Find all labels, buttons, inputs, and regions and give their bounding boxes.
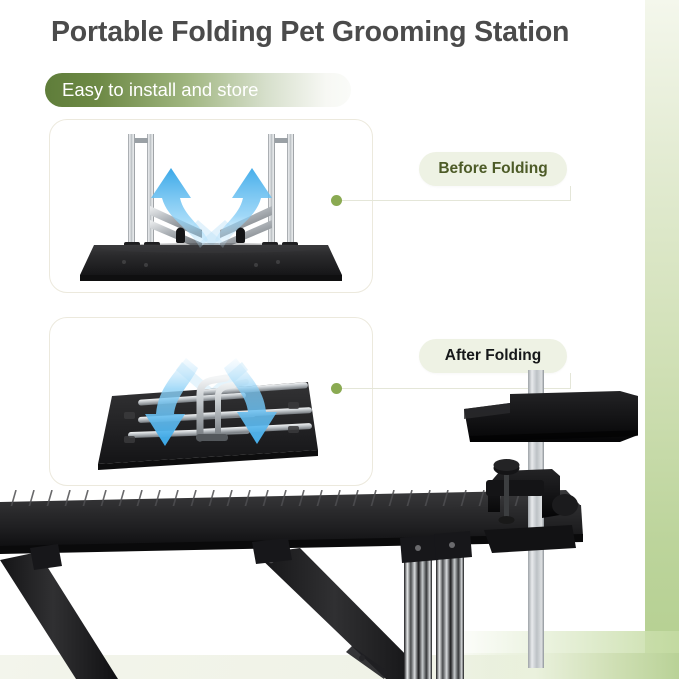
illustration-unfolded-stand [50,120,372,292]
clamp-side-knob [552,494,578,516]
connector-tick-before [570,186,571,201]
connector-dot-before [331,195,342,206]
product-photo-grooming-table [0,370,679,679]
label-after-folding-text: After Folding [445,347,541,365]
folding-leg-left [0,544,118,679]
infographic-canvas: Portable Folding Pet Grooming Station Ea… [0,0,679,679]
label-after-folding: After Folding [419,339,567,373]
label-before-folding-text: Before Folding [438,160,547,178]
figure-panel-before-folding [49,119,373,293]
center-support-post [400,531,472,679]
grooming-arm-bracket [464,391,638,442]
subtitle-badge: Easy to install and store [45,73,351,107]
label-before-folding: Before Folding [419,152,567,186]
page-title: Portable Folding Pet Grooming Station [51,16,641,49]
connector-line-before [340,200,570,201]
subtitle-badge-label: Easy to install and store [62,79,258,101]
